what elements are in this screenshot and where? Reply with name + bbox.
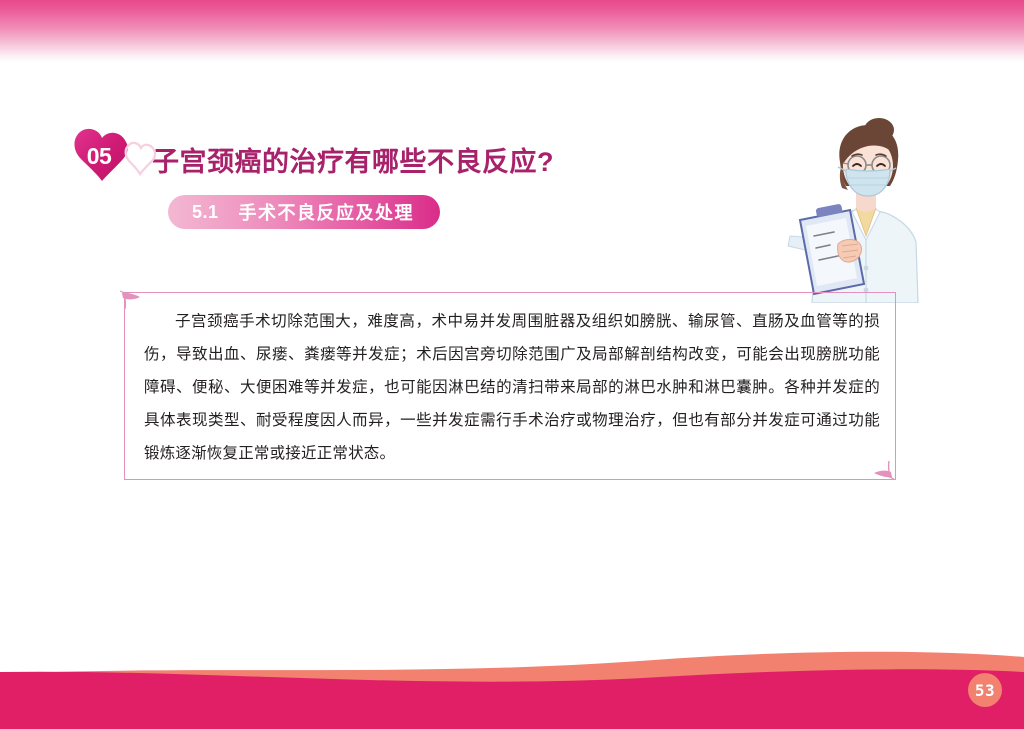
page-root: 05 子宫颈癌的治疗有哪些不良反应? 5.1 手术不良反应及处理 — [0, 0, 1024, 729]
subsection-label: 手术不良反应及处理 — [239, 199, 415, 225]
section-heading: 05 子宫颈癌的治疗有哪些不良反应? — [58, 128, 554, 190]
heart-number-badge: 05 — [58, 126, 160, 192]
heart-number-text: 05 — [76, 143, 122, 170]
bottom-wave-decoration — [0, 619, 1024, 729]
page-number-badge: 53 — [968, 673, 1002, 707]
body-paragraph: 子宫颈癌手术切除范围大，难度高，术中易并发周围脏器及组织如膀胱、输尿管、直肠及血… — [144, 305, 880, 470]
subsection-number: 5.1 — [192, 202, 219, 223]
doctor-illustration — [786, 118, 946, 303]
face-mask — [846, 169, 890, 196]
top-gradient-band — [0, 0, 1024, 62]
subsection-badge: 5.1 手术不良反应及处理 — [168, 195, 440, 229]
page-title: 子宫颈癌的治疗有哪些不良反应? — [152, 140, 554, 179]
